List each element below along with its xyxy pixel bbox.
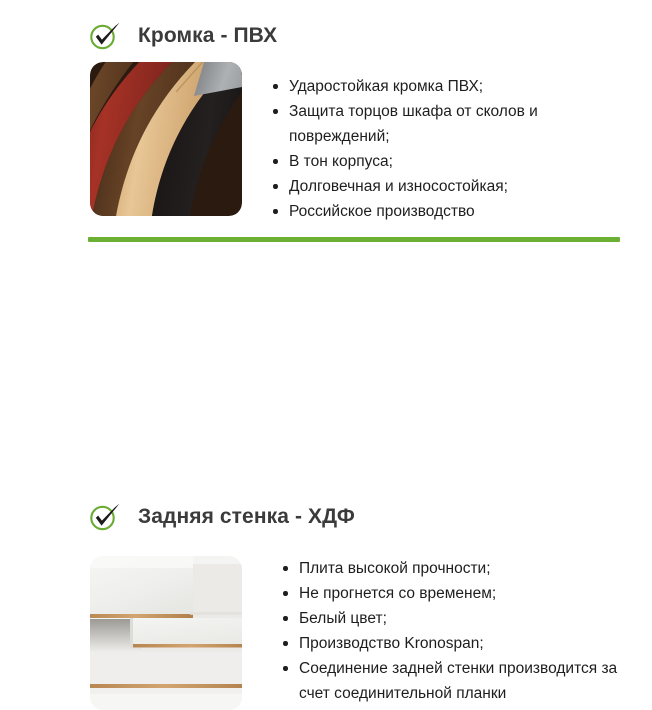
list-item: Плита высокой прочности;	[282, 556, 634, 581]
section-hdf-back-panel: Задняя стенка - ХДФ	[0, 248, 652, 500]
list-item: Долговечная и износостойкая;	[272, 174, 624, 199]
list-item: Белый цвет;	[282, 606, 634, 631]
section-pvc-edge: Кромка - ПВХ	[0, 0, 652, 232]
list-item: Соединение задней стенки производится за…	[282, 656, 634, 706]
list-item: Ударостойкая кромка ПВХ;	[272, 74, 624, 99]
check-circle-icon	[88, 20, 122, 52]
section-header-hdf-back-panel: Задняя стенка - ХДФ	[88, 501, 355, 533]
section-header-pvc-edge: Кромка - ПВХ	[88, 20, 277, 52]
feature-list-pvc-edge: Ударостойкая кромка ПВХ; Защита торцов ш…	[272, 74, 624, 224]
list-item: Защита торцов шкафа от сколов и поврежде…	[272, 99, 624, 149]
feature-card-page: Кромка - ПВХ	[0, 0, 652, 500]
list-item: В тон корпуса;	[272, 149, 624, 174]
section-divider	[88, 237, 620, 242]
pvc-edge-banding-photo	[90, 62, 242, 216]
page-title-hdf-back-panel: Задняя стенка - ХДФ	[138, 502, 355, 532]
list-item: Производство Kronospan;	[282, 631, 634, 656]
feature-list-hdf-back-panel: Плита высокой прочности; Не прогнется со…	[282, 556, 634, 706]
check-circle-icon	[88, 501, 122, 533]
list-item: Российское производство	[272, 199, 624, 224]
page-title-pvc-edge: Кромка - ПВХ	[138, 21, 277, 51]
hdf-back-panel-photo	[90, 556, 242, 710]
list-item: Не прогнется со временем;	[282, 581, 634, 606]
